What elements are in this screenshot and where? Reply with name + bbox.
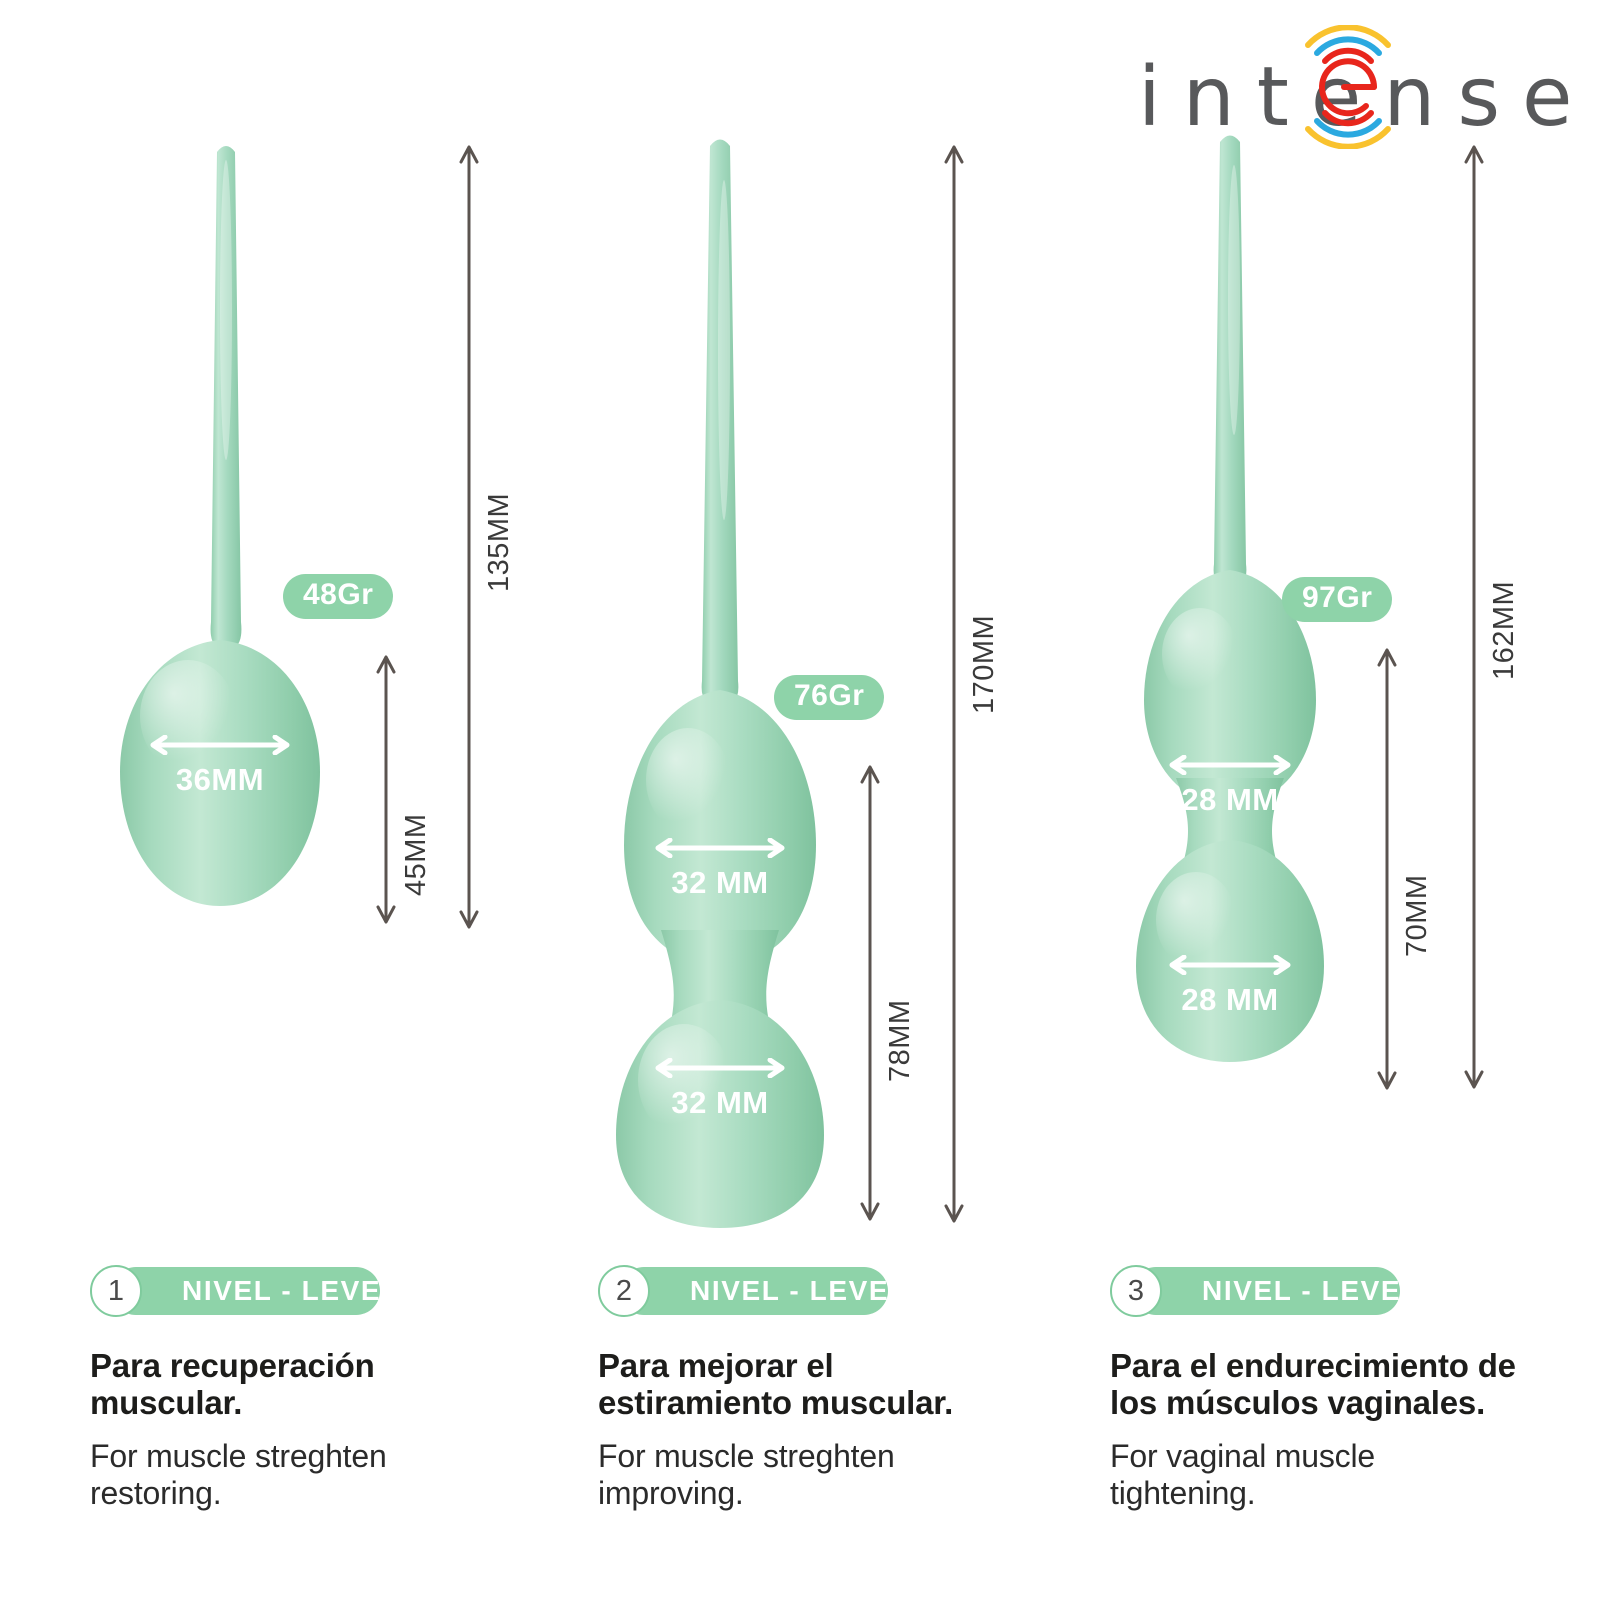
dimension-total-length-label-2: 170MM <box>970 615 999 714</box>
weight-badge-level-2: 76Gr <box>774 675 884 720</box>
level-number-3: 3 <box>1110 1265 1162 1317</box>
double-arrow-vertical-icon <box>457 142 481 932</box>
dimension-body-length-3: 70MM <box>1375 645 1399 1098</box>
product-illustration-level-2 <box>528 0 998 1250</box>
level-title-es-2: Para mejorar el estiramiento muscular. <box>598 1347 1058 1422</box>
level-pill-label-3: NIVEL - LEVEL <box>1202 1277 1420 1305</box>
level-pill-1: NIVEL - LEVEL <box>112 1267 380 1315</box>
level-pill-2: NIVEL - LEVEL <box>620 1267 888 1315</box>
product-column-2: 76Gr 32 MM 32 MM 78MM 170MM <box>528 0 1048 1600</box>
level-subtitle-en-3: For vaginal muscle tightening. <box>1110 1438 1600 1514</box>
weight-badge-level-3: 97Gr <box>1282 577 1392 622</box>
dimension-total-length-3: 162MM <box>1462 142 1486 1097</box>
double-arrow-vertical-icon <box>858 762 882 1224</box>
level-number-2: 2 <box>598 1265 650 1317</box>
level-subtitle-en-2: For muscle streghten improving. <box>598 1438 1058 1514</box>
level-pill-label-1: NIVEL - LEVEL <box>182 1277 400 1305</box>
product-column-3: 97Gr 28 MM 28 MM 70MM 162MM <box>1030 0 1550 1600</box>
level-number-1: 1 <box>90 1265 142 1317</box>
level-title-es-3: Para el endurecimiento de los músculos v… <box>1110 1347 1600 1422</box>
level-block-2: NIVEL - LEVEL 2 Para mejorar el estirami… <box>598 1265 1058 1513</box>
level-badge-2[interactable]: NIVEL - LEVEL 2 <box>598 1265 888 1321</box>
product-illustration-level-3 <box>1030 0 1590 1120</box>
level-pill-3: NIVEL - LEVEL <box>1132 1267 1400 1315</box>
level-block-1: NIVEL - LEVEL 1 Para recuperación muscul… <box>90 1265 550 1513</box>
dimension-body-length-label-3: 70MM <box>1403 874 1432 957</box>
level-block-3: NIVEL - LEVEL 3 Para el endurecimiento d… <box>1110 1265 1600 1513</box>
dimension-total-length-2: 170MM <box>942 142 966 1231</box>
dimension-body-length-label-2: 78MM <box>886 999 915 1082</box>
level-subtitle-en-1: For muscle streghten restoring. <box>90 1438 550 1514</box>
dimension-total-length-1: 135MM <box>457 142 481 937</box>
level-badge-3[interactable]: NIVEL - LEVEL 3 <box>1110 1265 1400 1321</box>
double-arrow-vertical-icon <box>942 142 966 1226</box>
dimension-body-length-1: 45MM <box>374 652 398 932</box>
dimension-body-length-2: 78MM <box>858 762 882 1229</box>
dimension-total-length-label-1: 135MM <box>485 493 514 592</box>
level-pill-label-2: NIVEL - LEVEL <box>690 1277 908 1305</box>
level-title-es-1: Para recuperación muscular. <box>90 1347 550 1422</box>
level-badge-1[interactable]: NIVEL - LEVEL 1 <box>90 1265 380 1321</box>
dimension-body-length-label-1: 45MM <box>402 813 431 896</box>
double-arrow-vertical-icon <box>374 652 398 927</box>
product-column-1: 48Gr 36MM 45MM 135MM NIVEL - LEVEL <box>20 0 540 1600</box>
dimension-total-length-label-3: 162MM <box>1490 581 1519 680</box>
double-arrow-vertical-icon <box>1462 142 1486 1092</box>
double-arrow-vertical-icon <box>1375 645 1399 1093</box>
weight-badge-level-1: 48Gr <box>283 574 393 619</box>
